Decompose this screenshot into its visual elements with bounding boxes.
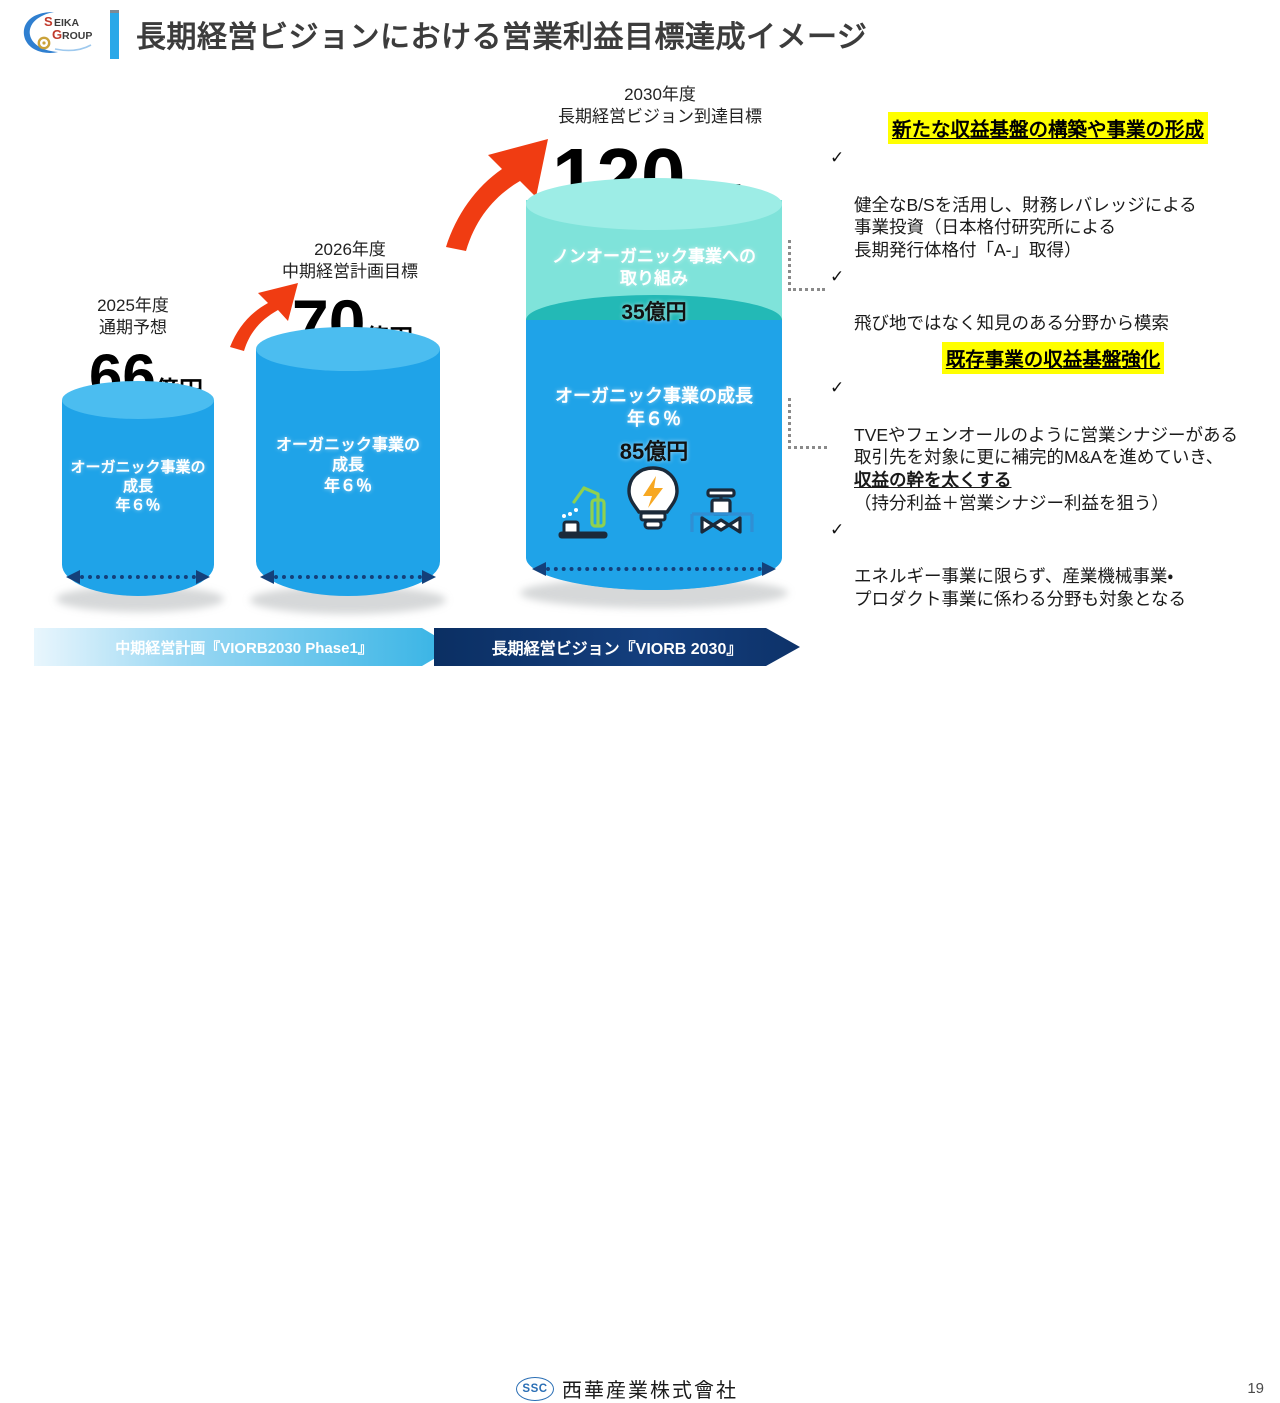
list-item: ✓ 飛び地ではなく知見のある分野から模索 xyxy=(828,267,1268,335)
callout-bracket-bottom xyxy=(788,398,827,449)
panel-existing-revenue-strengthen: 既存事業の収益基盤強化 ✓ TVEやフェンオールのように営業シナジーがある 取引… xyxy=(828,342,1278,616)
width-arrow-2025 xyxy=(66,570,210,584)
panel-new-revenue-base: 新たな収益基盤の構築や事業の形成 ✓ 健全なB/Sを活用し、財務レバレッジによる… xyxy=(828,112,1268,340)
check-icon: ✓ xyxy=(830,519,844,541)
cylinder-segment-organic-body-2030 xyxy=(526,320,782,590)
width-arrow-2026 xyxy=(260,570,436,584)
cylinder-top-2026 xyxy=(256,327,440,371)
caption-2030-line1: 2030年度 xyxy=(525,85,795,106)
valve-icon xyxy=(688,480,756,545)
bullet-text-part: （持分利益＋営業シナジー利益を狙う） xyxy=(854,493,1169,513)
cylinder-body-2026 xyxy=(256,349,440,596)
width-arrow-2030 xyxy=(532,562,776,576)
panel-2-title: 既存事業の収益基盤強化 xyxy=(942,342,1165,374)
banner-phase2-label: 長期経営ビジョン『VIORB 2030』 xyxy=(492,635,743,659)
caption-2026-line2: 中期経営計画目標 xyxy=(252,262,448,283)
svg-text:G: G xyxy=(52,27,62,42)
cylinder-top-2025 xyxy=(62,381,214,419)
title-accent-bar xyxy=(110,10,119,59)
page-title: 長期経営ビジョンにおける営業利益目標達成イメージ xyxy=(136,12,867,56)
seika-group-logo: S EIKA G ROUP xyxy=(14,7,106,59)
robot-arm-icon xyxy=(554,478,618,545)
slide-root: S EIKA G ROUP 長期経営ビジョンにおける営業利益目標達成イメージ 2… xyxy=(0,0,1280,719)
panel-1-bullets: ✓ 健全なB/Sを活用し、財務レバレッジによる 事業投資（日本格付研究所による … xyxy=(828,148,1268,335)
svg-text:ROUP: ROUP xyxy=(62,30,92,42)
bullet-text: エネルギー事業に限らず、産業機械事業・ プロダクト事業に係わる分野も対象となる xyxy=(854,566,1186,609)
cylinder-top-2030 xyxy=(526,178,782,230)
caption-2025-line2: 通期予想 xyxy=(58,318,208,339)
bullet-text-emphasis: 収益の幹を太くする xyxy=(854,470,1012,490)
company-name: 西華産業株式會社 xyxy=(562,1374,738,1403)
bullet-text: 飛び地ではなく知見のある分野から模索 xyxy=(854,313,1169,333)
banner-phase2: 長期経営ビジョン『VIORB 2030』 xyxy=(434,628,800,666)
check-icon: ✓ xyxy=(830,147,844,169)
bullet-text-part: TVEやフェンオールのように営業シナジーがある 取引先を対象に更に補完的M&Aを… xyxy=(854,425,1238,468)
banner-phase1-label: 中期経営計画『VIORB2030 Phase1』 xyxy=(115,637,373,658)
slide-footer: SSC 西華産業株式會社 19 xyxy=(0,686,1280,719)
banner-phase1: 中期経営計画『VIORB2030 Phase1』 xyxy=(34,628,454,666)
lightbulb-icon xyxy=(624,464,682,539)
company-logo: SSC 西華産業株式會社 xyxy=(516,1374,738,1403)
cylinder-body-2025 xyxy=(62,400,214,596)
callout-bracket-top xyxy=(788,240,825,291)
ssc-mark-icon: SSC xyxy=(516,1377,554,1401)
check-icon: ✓ xyxy=(830,377,844,399)
caption-2026-line1: 2026年度 xyxy=(252,240,448,261)
business-icon-row xyxy=(545,473,765,545)
bullet-text: 健全なB/Sを活用し、財務レバレッジによる 事業投資（日本格付研究所による 長期… xyxy=(854,195,1197,261)
phase-banner: 中期経営計画『VIORB2030 Phase1』 長期経営ビジョン『VIORB … xyxy=(34,628,800,666)
panel-2-bullets: ✓ TVEやフェンオールのように営業シナジーがある 取引先を対象に更に補完的M&… xyxy=(828,378,1278,611)
check-icon: ✓ xyxy=(830,266,844,288)
caption-2025-line1: 2025年度 xyxy=(58,296,208,317)
panel-1-title: 新たな収益基盤の構築や事業の形成 xyxy=(888,112,1208,144)
list-item: ✓ エネルギー事業に限らず、産業機械事業・ プロダクト事業に係わる分野も対象とな… xyxy=(828,520,1278,611)
list-item: ✓ 健全なB/Sを活用し、財務レバレッジによる 事業投資（日本格付研究所による … xyxy=(828,148,1268,262)
slide-header: S EIKA G ROUP 長期経営ビジョンにおける営業利益目標達成イメージ xyxy=(0,0,1280,66)
caption-2030-line2: 長期経営ビジョン到達目標 xyxy=(525,107,795,128)
page-number: 19 xyxy=(1247,1380,1264,1397)
list-item: ✓ TVEやフェンオールのように営業シナジーがある 取引先を対象に更に補完的M&… xyxy=(828,378,1278,515)
